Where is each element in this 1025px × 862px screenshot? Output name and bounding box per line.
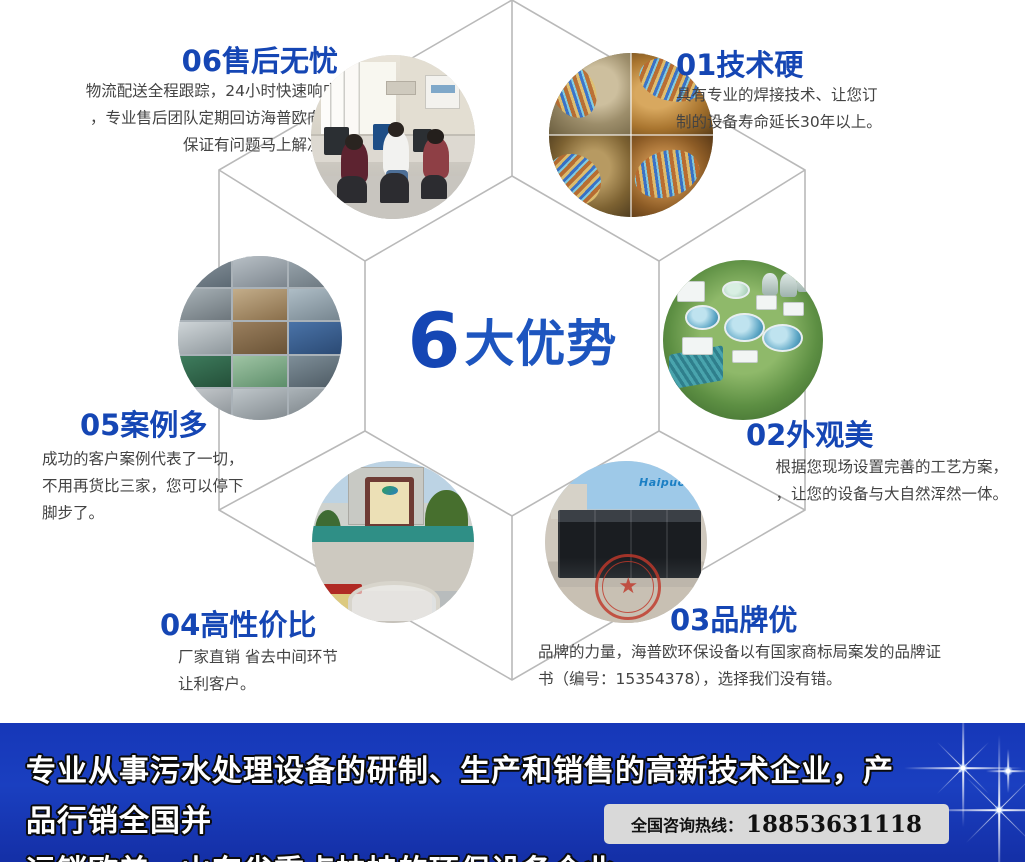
feature-01-desc: 具有专业的焊接技术、让您订 制的设备寿命延长30年以上。 [676,82,1006,136]
hotline-box: 全国咨询热线：18853631118 [604,804,949,844]
feature-03-desc: 品牌的力量，海普欧环保设备以有国家商标局案发的品牌证 书（编号：15354378… [538,639,1008,693]
feature-02-desc: 根据您现场设置完善的工艺方案， ，让您的设备与大自然浑然一体。 [690,454,1008,508]
hotline-number: 18853631118 [746,811,922,838]
hotline-label: 全国咨询热线： [631,812,743,836]
feature-03: 03品牌优 品牌的力量，海普欧环保设备以有国家商标局案发的品牌证 书（编号：15… [538,603,1008,693]
sparkle-icon [1007,770,1009,772]
feature-05-desc: 成功的客户案例代表了一切， 不用再货比三家，您可以停下 脚步了。 [42,446,342,527]
factory-gate-photo [312,461,474,623]
feature-04: 04高性价比 厂家直销 省去中间环节 让利客户。 [160,608,460,698]
feature-03-title: 03品牌优 [670,603,1008,637]
feature-04-title: 04高性价比 [160,608,460,642]
feature-02-title: 02外观美 [746,418,1008,452]
case-collage-photo [178,256,342,420]
office-team-photo [311,55,475,219]
feature-01: 01技术硬 具有专业的焊接技术、让您订 制的设备寿命延长30年以上。 [676,48,1006,136]
infographic-canvas: 06售后无忧 物流配送全程跟踪，24小时快速响应 ，专业售后团队定期回访海普欧向… [0,0,1025,862]
feature-06-title: 06售后无忧 [18,44,338,78]
aerial-treatment-plant-photo [663,260,823,420]
haipuou-logo: Haipuou [639,476,694,491]
feature-05-title: 05案例多 [80,408,342,442]
sparkle-icon [962,767,964,769]
feature-06-desc: 物流配送全程跟踪，24小时快速响应 ，专业售后团队定期回访海普欧向您 保证有问题… [18,78,338,159]
sparkle-icon [998,809,1000,811]
feature-04-desc: 厂家直销 省去中间环节 让利客户。 [178,644,460,698]
feature-06: 06售后无忧 物流配送全程跟踪，24小时快速响应 ，专业售后团队定期回访海普欧向… [18,44,338,159]
center-number: 6 [408,296,459,385]
equipment-with-trademark-stamp-photo: Haipuou ★ [545,461,707,623]
center-title: 6大优势 [0,296,1025,385]
center-label: 大优势 [464,315,617,373]
feature-05: 05案例多 成功的客户案例代表了一切， 不用再货比三家，您可以停下 脚步了。 [42,408,342,527]
feature-02: 02外观美 根据您现场设置完善的工艺方案， ，让您的设备与大自然浑然一体。 [690,418,1008,508]
feature-01-title: 01技术硬 [676,48,1006,82]
